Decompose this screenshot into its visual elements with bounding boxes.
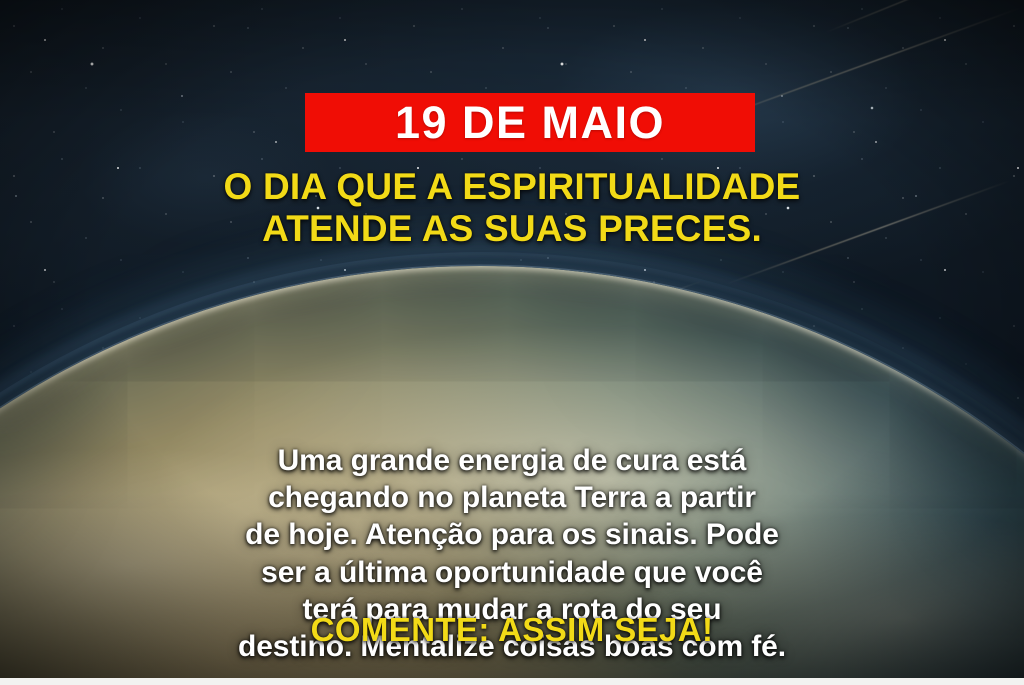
body-line-3: de hoje. Atenção para os sinais. Pode: [0, 516, 1024, 553]
headline-line-2: ATENDE AS SUAS PRECES.: [0, 208, 1024, 250]
headline: O DIA QUE A ESPIRITUALIDADE ATENDE AS SU…: [0, 166, 1024, 250]
body-line-1: Uma grande energia de cura está: [0, 442, 1024, 479]
date-banner-text: 19 DE MAIO: [395, 100, 665, 145]
call-to-action-text: COMENTE: ASSIM SEJA!: [0, 612, 1024, 648]
headline-line-1: O DIA QUE A ESPIRITUALIDADE: [0, 166, 1024, 208]
bottom-border: [0, 678, 1024, 685]
poster-content: 19 DE MAIO O DIA QUE A ESPIRITUALIDADE A…: [0, 0, 1024, 685]
date-banner: 19 DE MAIO: [305, 93, 755, 152]
body-line-4: ser a última oportunidade que você: [0, 554, 1024, 591]
body-line-2: chegando no planeta Terra a partir: [0, 479, 1024, 516]
social-media-poster: 19 DE MAIO O DIA QUE A ESPIRITUALIDADE A…: [0, 0, 1024, 685]
